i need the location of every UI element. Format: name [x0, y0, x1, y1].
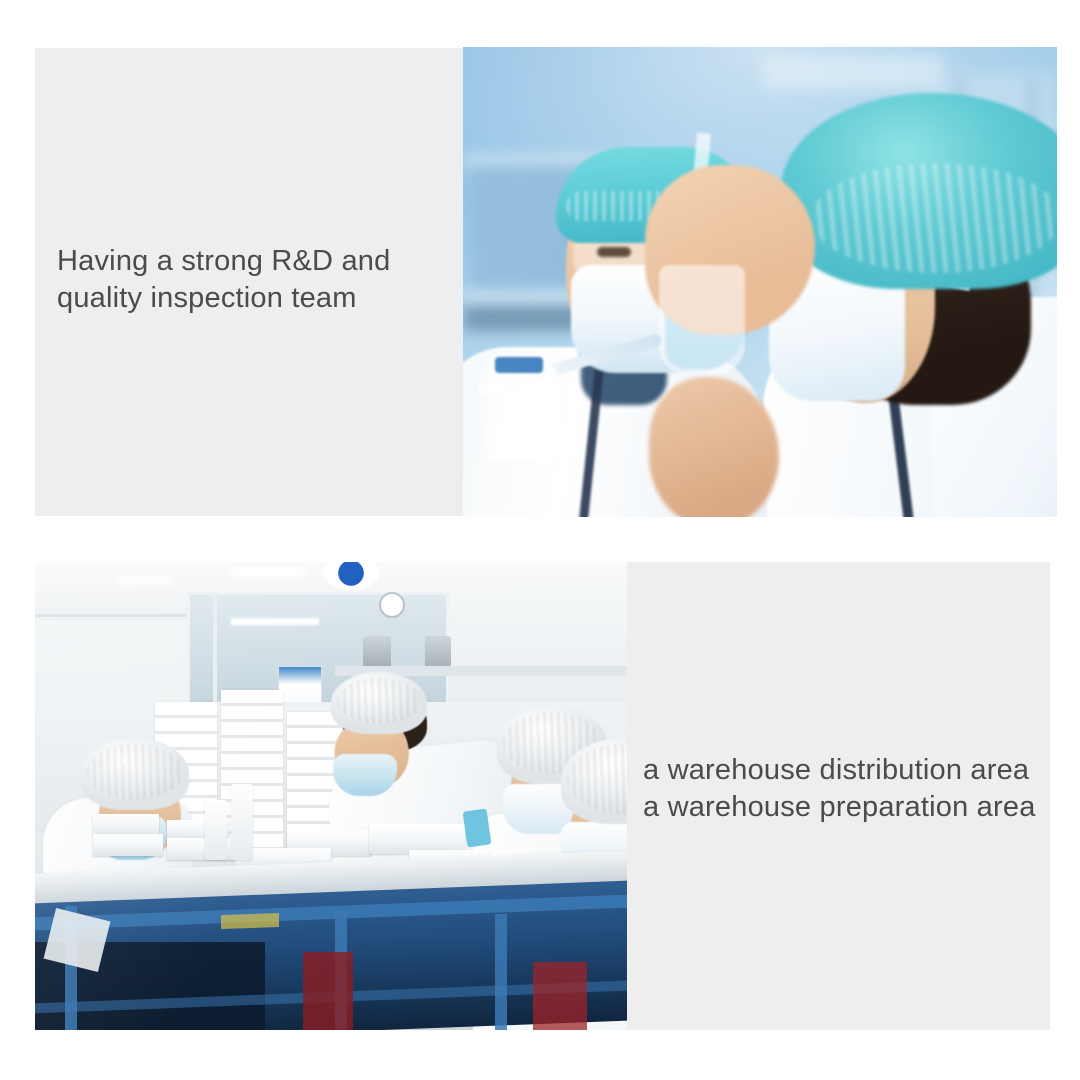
warehouse-packing-photo: [35, 562, 627, 1030]
technician-right-hairnet: [781, 93, 1057, 289]
product-bottle: [231, 784, 253, 860]
rnd-caption: Having a strong R&D and quality inspecti…: [57, 243, 457, 317]
ceiling-light: [231, 568, 305, 578]
red-crate: [303, 952, 353, 1030]
window-light-reflection: [231, 618, 319, 625]
worker-face-mask: [333, 754, 397, 796]
blue-hand-tool: [463, 809, 492, 848]
wall-clock: [379, 592, 405, 618]
worker-hairnet: [81, 738, 189, 810]
worker-hairnet: [331, 672, 427, 734]
reagent-bottle: [487, 365, 557, 461]
technician-left-eye: [597, 247, 631, 257]
reagent-bottle-cap: [495, 357, 543, 373]
rnd-laboratory-photo: [463, 47, 1057, 517]
table-frame-leg: [495, 914, 507, 1030]
red-crate: [533, 962, 587, 1030]
ceiling-light: [119, 576, 171, 585]
product-bottle: [205, 800, 227, 860]
yellow-marking: [221, 913, 279, 929]
worker-hairnet: [561, 738, 627, 824]
packing-box: [93, 834, 163, 856]
lab-shelf: [763, 55, 943, 89]
packing-box: [93, 814, 159, 836]
product-detail-page: Having a strong R&D and quality inspecti…: [0, 0, 1080, 1080]
gloved-hand-lower: [649, 377, 779, 517]
warehouse-caption: a warehouse distribution area a warehous…: [643, 752, 1053, 826]
glass-flask: [659, 265, 745, 375]
